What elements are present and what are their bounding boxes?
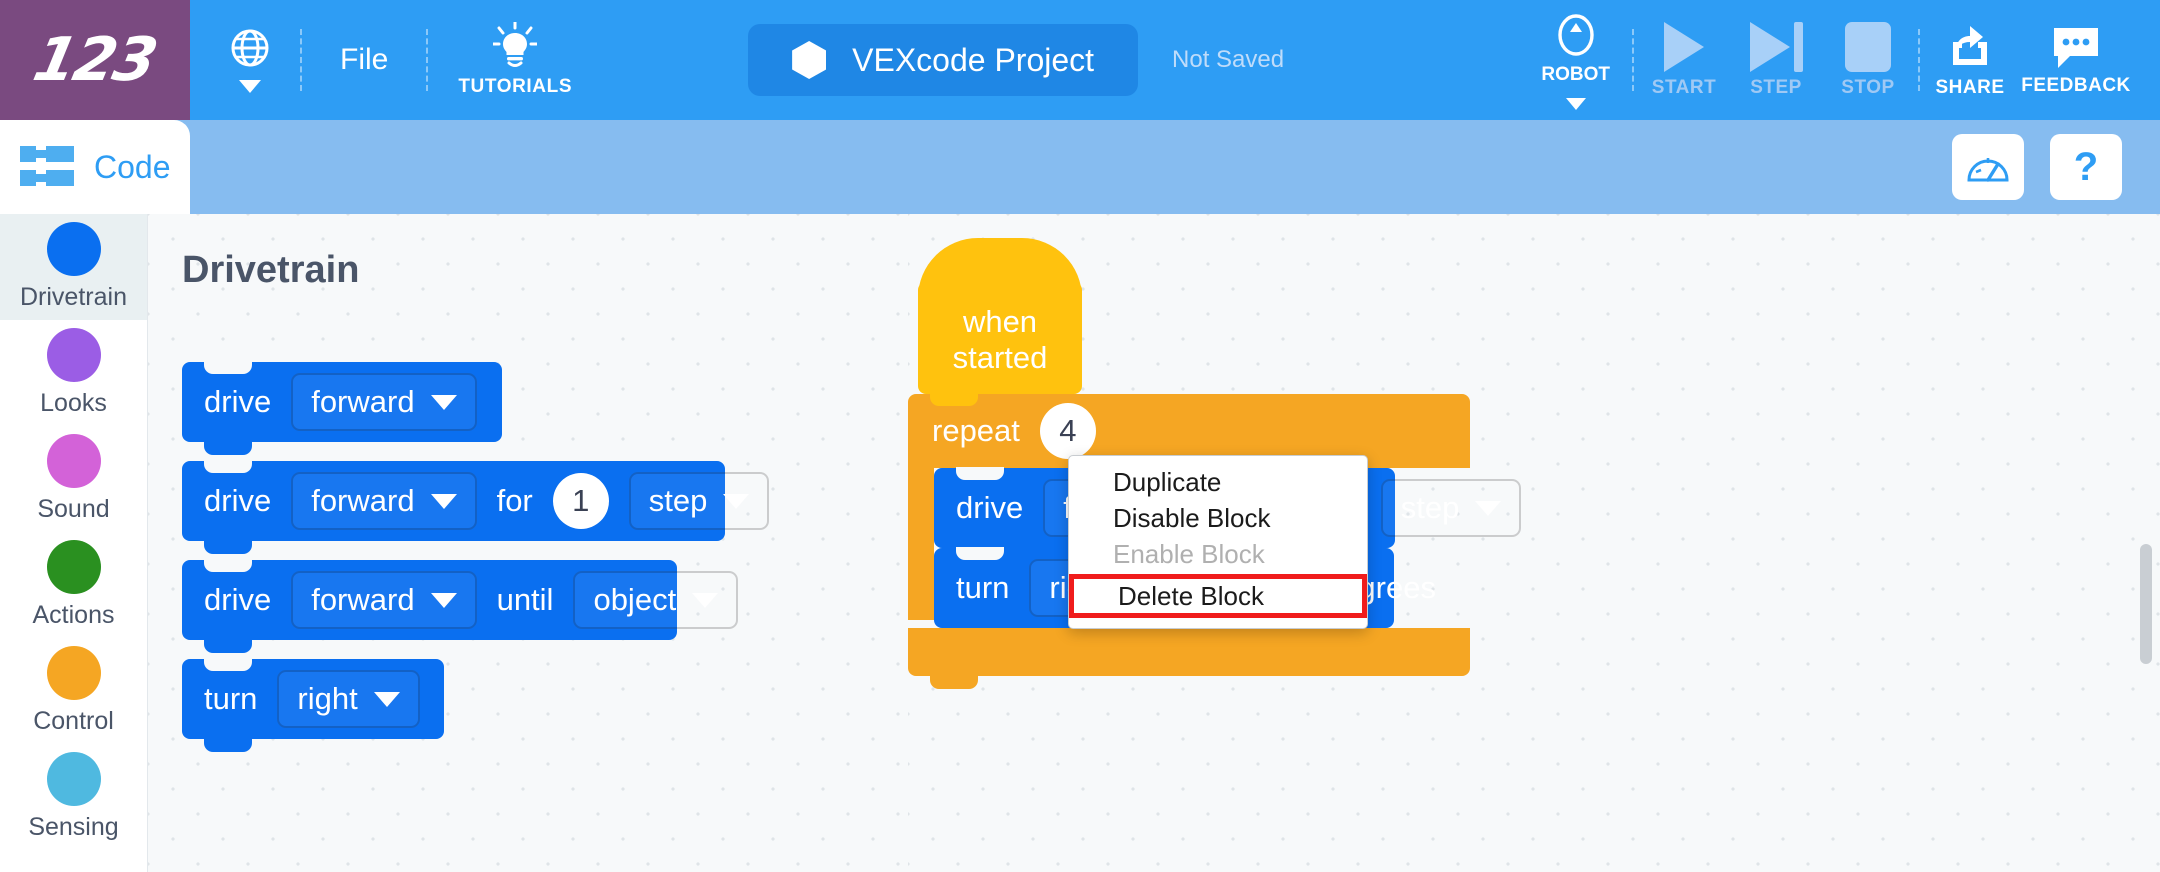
- dropdown-value: step: [649, 483, 708, 519]
- block-verb: turn: [204, 681, 257, 717]
- project-hex-icon: [792, 41, 826, 79]
- repeat-footer: [908, 628, 1470, 676]
- tutorials-label: TUTORIALS: [458, 76, 572, 98]
- chevron-down-icon: [374, 692, 400, 707]
- feedback-label: FEEDBACK: [2021, 75, 2131, 97]
- feedback-button[interactable]: FEEDBACK: [2016, 0, 2136, 120]
- code-tab-label: Code: [94, 149, 171, 186]
- sidebar-item-sound[interactable]: Sound: [0, 426, 147, 532]
- save-status: Not Saved: [1172, 46, 1284, 74]
- chevron-down-icon: [431, 593, 457, 608]
- repeat-count-input[interactable]: 4: [1040, 403, 1096, 459]
- sidebar-item-actions[interactable]: Actions: [0, 532, 147, 638]
- tab-code[interactable]: Code: [0, 120, 190, 214]
- language-selector[interactable]: [190, 0, 296, 120]
- step-label: STEP: [1750, 77, 1802, 99]
- robot-icon: [1554, 11, 1598, 59]
- sidebar-item-label: Drivetrain: [20, 283, 127, 312]
- repeat-arm: [908, 468, 934, 620]
- block-number-input[interactable]: 1: [553, 473, 609, 529]
- app-logo: 123: [0, 0, 190, 120]
- feedback-icon: [2050, 24, 2102, 70]
- category-dot-icon: [47, 752, 101, 806]
- dashboard-icon: [1966, 150, 2010, 184]
- help-button[interactable]: ?: [2050, 134, 2122, 200]
- dropdown-value: forward: [311, 582, 414, 618]
- globe-icon: [230, 28, 270, 68]
- lightbulb-icon: [493, 22, 537, 72]
- start-button[interactable]: START: [1638, 0, 1730, 120]
- chevron-down-icon: [1475, 501, 1501, 516]
- share-label: SHARE: [1935, 77, 2004, 99]
- context-menu-item-delete-block[interactable]: Delete Block: [1069, 574, 1367, 618]
- file-menu-button[interactable]: File: [306, 0, 422, 120]
- block-verb: drive: [204, 483, 271, 519]
- block-verb: drive: [204, 582, 271, 618]
- logo-text: 123: [28, 25, 162, 95]
- category-dot-icon: [47, 540, 101, 594]
- dropdown-value: forward: [311, 483, 414, 519]
- block-verb: drive: [204, 384, 271, 420]
- palette-block-drive-until-object[interactable]: drive forward until object: [182, 560, 677, 640]
- stop-label: STOP: [1841, 77, 1894, 99]
- play-icon: [1664, 22, 1704, 72]
- palette-block-drive-for-step[interactable]: drive forward for 1 step: [182, 461, 725, 541]
- block-verb: turn: [956, 570, 1009, 606]
- share-icon: [1945, 22, 1995, 72]
- sidebar-item-control[interactable]: Control: [0, 638, 147, 744]
- block-dropdown-direction[interactable]: forward: [291, 373, 476, 431]
- dropdown-value: right: [297, 681, 357, 717]
- share-button[interactable]: SHARE: [1924, 0, 2016, 120]
- block-dropdown-target[interactable]: object: [573, 571, 738, 629]
- block-verb: drive: [956, 490, 1023, 526]
- dropdown-value: forward: [311, 384, 414, 420]
- context-menu-item-enable-block: Enable Block: [1069, 536, 1367, 572]
- divider: [1632, 29, 1634, 91]
- palette-title: Drivetrain: [182, 249, 359, 292]
- block-dropdown-direction[interactable]: forward: [291, 571, 476, 629]
- chevron-down-icon: [431, 494, 457, 509]
- chevron-down-icon: [692, 593, 718, 608]
- project-name-text: VEXcode Project: [852, 42, 1094, 79]
- block-dropdown-direction[interactable]: right: [277, 670, 419, 728]
- divider: [426, 29, 428, 91]
- block-dropdown-unit[interactable]: step: [1381, 479, 1522, 537]
- palette-block-turn-right[interactable]: turn right: [182, 659, 444, 739]
- divider: [1918, 29, 1920, 91]
- block-connector: for: [497, 483, 533, 519]
- palette-block-drive-forward[interactable]: drive forward: [182, 362, 502, 442]
- category-dot-icon: [47, 646, 101, 700]
- chevron-down-icon: [431, 395, 457, 410]
- sidebar-item-sensing[interactable]: Sensing: [0, 744, 147, 850]
- block-context-menu[interactable]: Duplicate Disable Block Enable Block Del…: [1068, 455, 1368, 629]
- stop-icon: [1845, 22, 1891, 72]
- category-dot-icon: [47, 222, 101, 276]
- sidebar-item-label: Sensing: [28, 813, 118, 842]
- stop-button[interactable]: STOP: [1822, 0, 1914, 120]
- dropdown-value: step: [1401, 490, 1460, 526]
- help-label: ?: [2074, 145, 2098, 190]
- dashboard-button[interactable]: [1952, 134, 2024, 200]
- robot-button[interactable]: ROBOT: [1531, 0, 1628, 120]
- top-toolbar: 123 File: [0, 0, 2160, 120]
- tutorials-button[interactable]: TUTORIALS: [432, 0, 598, 120]
- sidebar-item-drivetrain[interactable]: Drivetrain: [0, 214, 147, 320]
- category-sidebar: Drivetrain Looks Sound Actions Control S…: [0, 214, 148, 872]
- step-button[interactable]: STEP: [1730, 0, 1822, 120]
- chevron-down-icon: [239, 80, 261, 93]
- chevron-down-icon: [723, 494, 749, 509]
- block-dropdown-unit[interactable]: step: [629, 472, 770, 530]
- context-menu-item-disable-block[interactable]: Disable Block: [1069, 500, 1367, 536]
- block-palette[interactable]: Drivetrain drive forward drive forward f…: [148, 214, 908, 872]
- sub-toolbar: Code ?: [0, 120, 2160, 214]
- project-name-field[interactable]: VEXcode Project: [748, 24, 1138, 96]
- sidebar-item-label: Actions: [33, 601, 115, 630]
- block-label: repeat: [922, 413, 1020, 449]
- block-connector: until: [497, 582, 554, 618]
- category-dot-icon: [47, 328, 101, 382]
- workspace-scrollbar[interactable]: [2140, 544, 2152, 664]
- dropdown-value: object: [593, 582, 676, 618]
- block-dropdown-direction[interactable]: forward: [291, 472, 476, 530]
- chevron-down-icon: [1566, 98, 1586, 110]
- divider: [300, 29, 302, 91]
- sidebar-item-label: Control: [33, 707, 114, 736]
- sidebar-item-label: Sound: [37, 495, 109, 524]
- code-blocks-icon: [18, 142, 80, 192]
- start-label: START: [1652, 77, 1716, 99]
- category-dot-icon: [47, 434, 101, 488]
- sidebar-item-label: Looks: [40, 389, 107, 418]
- step-icon: [1750, 22, 1803, 72]
- context-menu-item-duplicate[interactable]: Duplicate: [1069, 464, 1367, 500]
- robot-label: ROBOT: [1541, 64, 1610, 86]
- sidebar-item-looks[interactable]: Looks: [0, 320, 147, 426]
